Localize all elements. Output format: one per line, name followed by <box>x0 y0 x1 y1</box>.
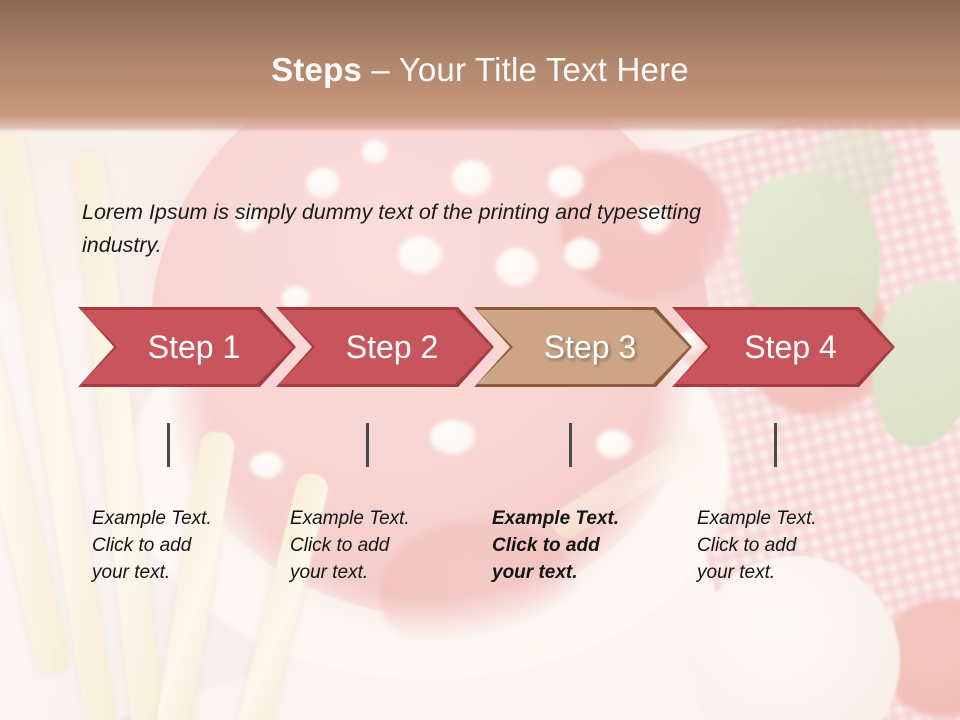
step-caption-3[interactable]: Example Text. Click to add your text. <box>492 505 662 586</box>
step-chevron-2[interactable]: Step 2 <box>276 307 494 387</box>
step-chevron-2-label: Step 2 <box>332 330 439 364</box>
steps-chevron-row: Step 1 Step 2 Step 3 Step 4 <box>0 307 960 387</box>
step-caption-2[interactable]: Example Text. Click to add your text. <box>290 505 460 586</box>
connector-tick-2 <box>366 423 369 467</box>
connector-tick-3 <box>569 423 572 467</box>
body-paragraph: Lorem Ipsum is simply dummy text of the … <box>82 196 884 262</box>
slide-canvas: Steps – Your Title Text Here Lorem Ipsum… <box>0 0 960 720</box>
step-chevron-4-label: Step 4 <box>730 330 837 364</box>
body-paragraph-line1: Lorem Ipsum is simply dummy text of the … <box>82 200 701 224</box>
page-title-bold: Steps <box>271 51 362 88</box>
step-chevron-3[interactable]: Step 3 <box>474 307 692 387</box>
connector-tick-1 <box>167 423 170 467</box>
step-caption-1[interactable]: Example Text. Click to add your text. <box>92 505 262 586</box>
step-chevron-3-label: Step 3 <box>530 330 637 364</box>
page-title-rest: – Your Title Text Here <box>362 51 689 88</box>
step-chevron-4[interactable]: Step 4 <box>672 307 895 387</box>
body-paragraph-line2: industry. <box>82 229 884 262</box>
connector-tick-4 <box>774 423 777 467</box>
step-chevron-1[interactable]: Step 1 <box>78 307 296 387</box>
page-title: Steps – Your Title Text Here <box>0 50 960 90</box>
step-chevron-1-label: Step 1 <box>134 330 241 364</box>
step-caption-4[interactable]: Example Text. Click to add your text. <box>697 505 867 586</box>
